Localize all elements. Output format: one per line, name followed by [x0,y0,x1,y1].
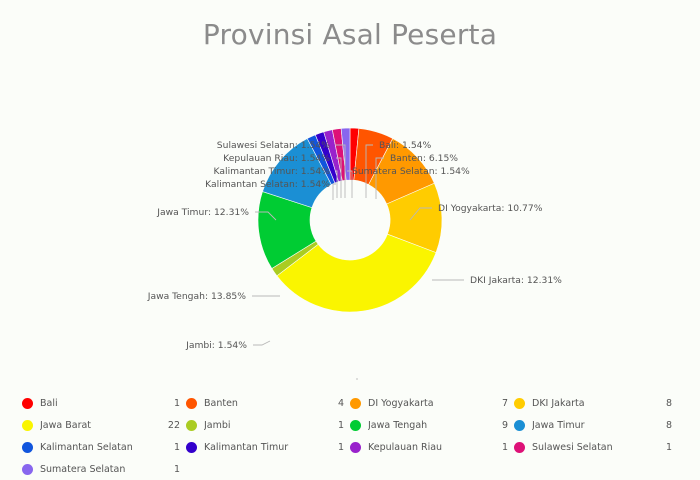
legend-item[interactable]: Jawa Tengah9 [350,414,514,436]
slice-callout-label: Jawa Tengah: 13.85% [147,291,247,302]
legend-swatch-icon [514,442,525,453]
legend-item-value: 1 [502,442,508,453]
legend-item-label: Jawa Timur [532,420,662,431]
page-title: Provinsi Asal Peserta [0,18,700,51]
legend-item[interactable]: Bali1 [22,392,186,414]
legend-item-value: 1 [338,420,344,431]
callout-leader-line [333,184,336,200]
legend-item-label: Sulawesi Selatan [532,442,662,453]
legend-swatch-icon [22,442,33,453]
legend-item-value: 9 [502,420,508,431]
legend-item[interactable]: Jawa Timur8 [514,414,678,436]
legend-item[interactable]: Kalimantan Timur1 [186,436,350,458]
legend-item-value: 22 [168,420,180,431]
legend-swatch-icon [350,420,361,431]
legend-item[interactable]: Jambi1 [186,414,350,436]
legend-item-label: Jambi [204,420,334,431]
legend-item-label: Kalimantan Selatan [40,442,170,453]
legend-item-label: DI Yogyakarta [368,398,498,409]
legend-item-value: 1 [174,464,180,475]
legend-item-value: 1 [174,398,180,409]
legend-item-value: 1 [666,442,672,453]
slice-callout-label: Banten: 6.15% [390,153,458,164]
legend-swatch-icon [186,398,197,409]
legend-item-label: Jawa Tengah [368,420,498,431]
legend-item-label: Kalimantan Timur [204,442,334,453]
callout-leader-line [253,341,270,345]
legend-item-label: Kepulauan Riau [368,442,498,453]
slice-callout-label: Sulawesi Selatan: 1.54% [217,140,330,151]
legend-item-value: 4 [338,398,344,409]
slice-callout-label: Kalimantan Timur: 1.54% [214,166,331,177]
legend-swatch-icon [186,442,197,453]
donut-chart-svg: Sulawesi Selatan: 1.54%Kepulauan Riau: 1… [0,60,700,380]
legend-swatch-icon [514,398,525,409]
slice-callout-label: DI Yogyakarta: 10.77% [438,203,543,214]
donut-chart-plot-area: Sulawesi Selatan: 1.54%Kepulauan Riau: 1… [0,60,700,380]
legend-item-value: 7 [502,398,508,409]
slice-callout-label: Kepulauan Riau: 1.54% [223,153,330,164]
chart-container: Provinsi Asal Peserta Sulawesi Selatan: … [0,0,700,464]
legend-swatch-icon [22,420,33,431]
legend-item[interactable]: DKI Jakarta8 [514,392,678,414]
legend-item-label: Bali [40,398,170,409]
legend-item-value: 8 [666,420,672,431]
legend-item[interactable]: Sumatera Selatan1 [22,458,186,480]
slice-callout-label: DKI Jakarta: 12.31% [470,275,562,286]
legend-swatch-icon [350,398,361,409]
legend-item[interactable]: Sulawesi Selatan1 [514,436,678,458]
chart-legend: Bali1Banten4DI Yogyakarta7DKI Jakarta8Ja… [22,392,682,480]
legend-item-value: 8 [666,398,672,409]
legend-item[interactable]: Banten4 [186,392,350,414]
legend-item[interactable]: Kalimantan Selatan1 [22,436,186,458]
legend-item-label: DKI Jakarta [532,398,662,409]
legend-item[interactable]: Kepulauan Riau1 [350,436,514,458]
legend-swatch-icon [186,420,197,431]
legend-item-label: Banten [204,398,334,409]
legend-swatch-icon [514,420,525,431]
legend-item-label: Sumatera Selatan [40,464,170,475]
slice-callout-label: Sumatera Selatan: 1.54% [352,166,470,177]
slice-callout-label: Bali: 1.54% [379,140,432,151]
legend-item-value: 1 [174,442,180,453]
slice-callout-label: Jambi: 1.54% [185,340,247,351]
legend-item[interactable]: Jawa Barat22 [22,414,186,436]
legend-swatch-icon [350,442,361,453]
legend-swatch-icon [22,398,33,409]
legend-item-label: Jawa Barat [40,420,164,431]
callout-leader-line [357,378,366,380]
legend-item[interactable]: DI Yogyakarta7 [350,392,514,414]
slice-callout-label: Jawa Timur: 12.31% [156,207,249,218]
slice-callout-label: Kalimantan Selatan: 1.54% [205,179,330,190]
legend-item-value: 1 [338,442,344,453]
legend-swatch-icon [22,464,33,475]
